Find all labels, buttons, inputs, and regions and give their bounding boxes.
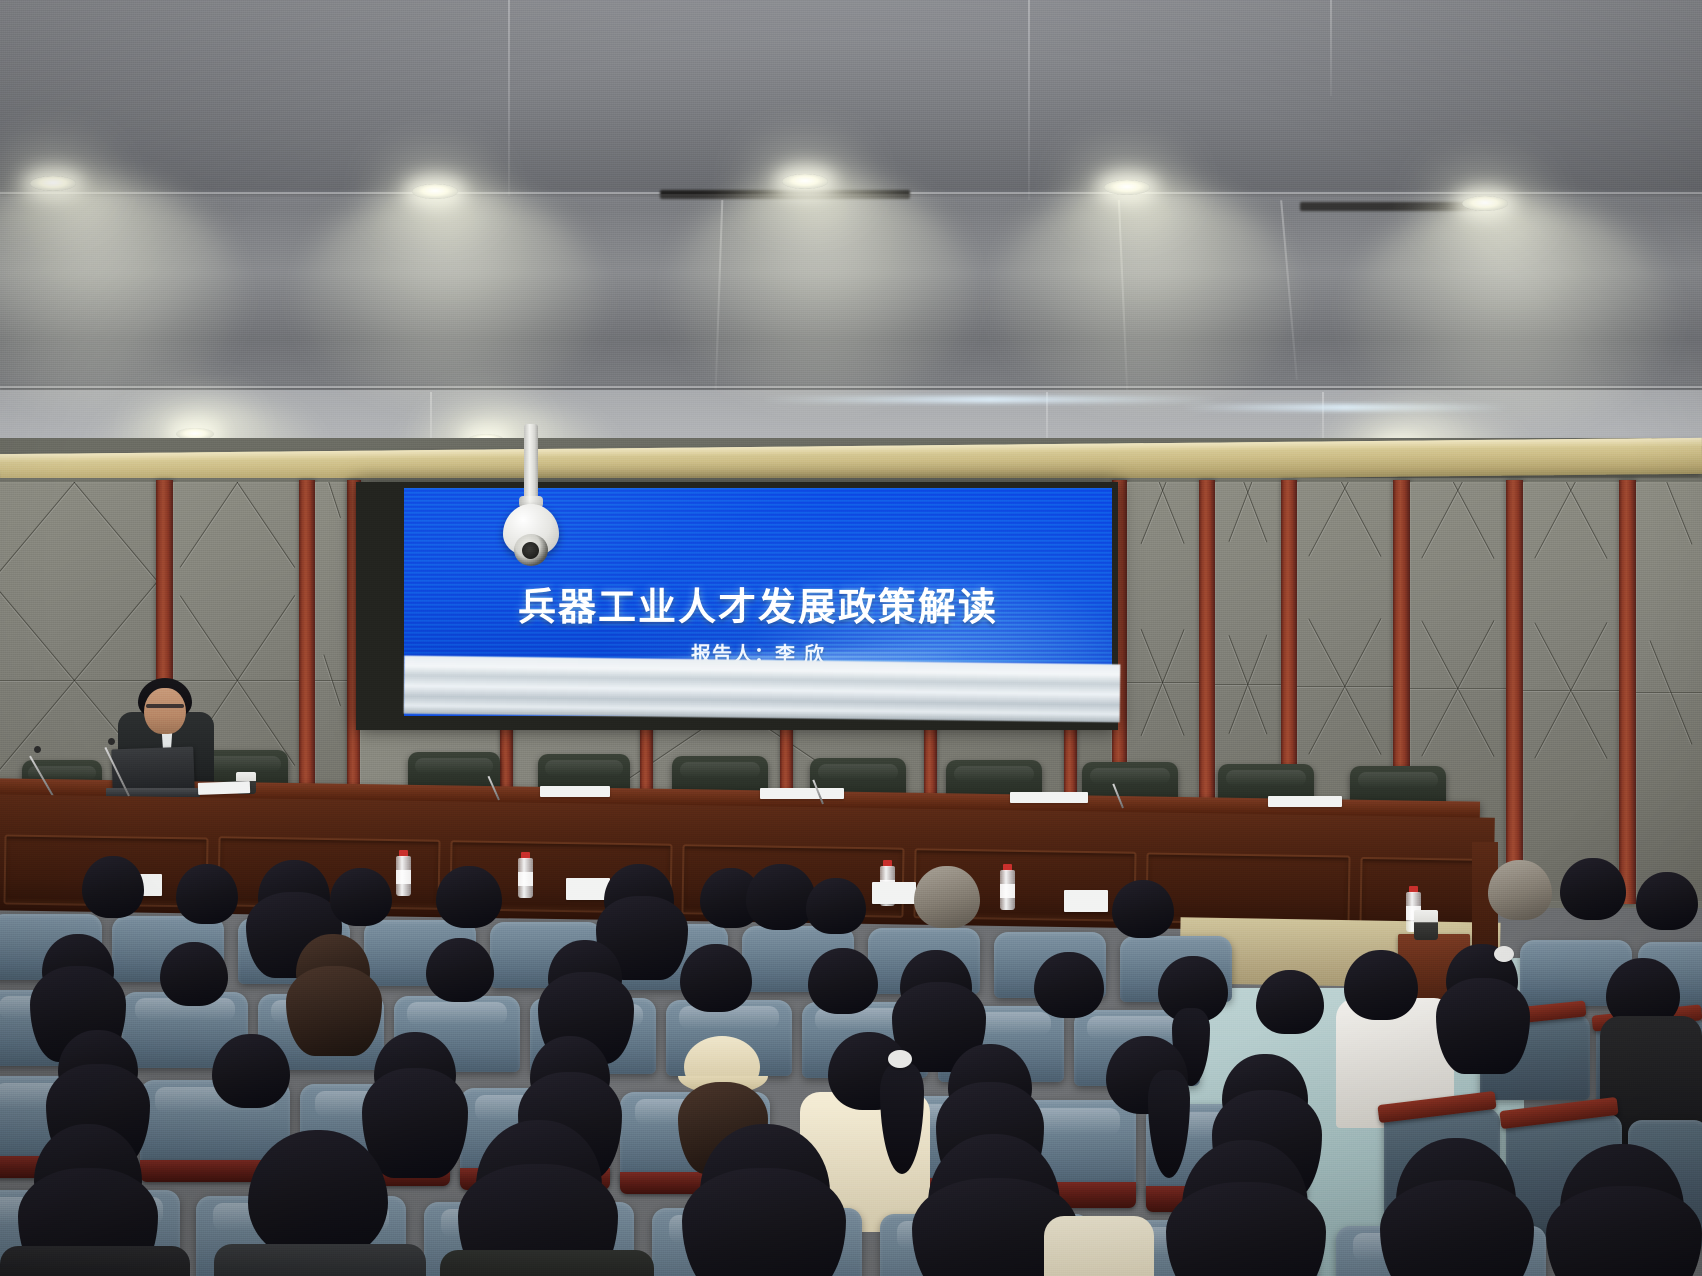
- ceiling-downlight: [782, 174, 828, 189]
- conference-hall-photo: 兵器工业人才发展政策解读 报告人：李 欣: [0, 0, 1702, 1276]
- audience-head: [1112, 880, 1174, 938]
- water-bottle: [1000, 864, 1015, 910]
- audience-head: [176, 864, 238, 924]
- camera-mount-pole: [524, 424, 538, 502]
- audience-head: [808, 948, 878, 1014]
- audience-head: [680, 944, 752, 1012]
- audience-hair: [362, 1068, 468, 1178]
- desk-papers: [1010, 792, 1088, 803]
- audience-head: [426, 938, 494, 1002]
- ceiling-downlight: [412, 184, 458, 199]
- audience-shoulders: [440, 1250, 654, 1276]
- ceiling-downlight: [1462, 196, 1508, 211]
- audience-head: [1560, 858, 1626, 920]
- desk-papers: [198, 781, 250, 795]
- microphone-head: [108, 738, 115, 745]
- camera-lens: [522, 542, 539, 559]
- hair-clip: [1494, 946, 1514, 962]
- speaker-glasses: [146, 704, 184, 708]
- audience-hair: [682, 1168, 846, 1276]
- ceiling: [0, 0, 1702, 470]
- audience-shoulders: [214, 1244, 426, 1276]
- audience-coat: [1044, 1216, 1154, 1276]
- audience-hair: [1436, 978, 1530, 1074]
- desk-papers: [1268, 796, 1342, 807]
- coffee-cup: [1414, 910, 1438, 940]
- audience-head: [436, 866, 502, 928]
- ceiling-downlight: [1104, 180, 1150, 195]
- audience-hair: [1166, 1182, 1326, 1276]
- hair-scrunchie: [888, 1050, 912, 1068]
- audience-head: [160, 942, 228, 1006]
- audience-head: [1344, 950, 1418, 1020]
- name-card: [872, 882, 916, 904]
- audience-head: [248, 1130, 388, 1260]
- audience-head: [914, 866, 980, 928]
- audience-area: 5: [0, 838, 1702, 1276]
- audience-shoulders: [0, 1246, 190, 1276]
- desk-papers: [540, 786, 610, 797]
- speaker-head: [144, 688, 186, 734]
- audience-head: [330, 868, 392, 926]
- audience-head: [212, 1034, 290, 1108]
- screen-lower-spill: [404, 656, 1121, 723]
- desk-papers: [760, 788, 844, 799]
- ceiling-downlight: [30, 176, 76, 191]
- audience-head: [746, 864, 816, 930]
- audience-head: [1256, 970, 1324, 1034]
- microphone-head: [34, 746, 41, 753]
- audience-head: [1488, 860, 1552, 920]
- audience-head: [806, 878, 866, 934]
- audience-head: [1636, 872, 1698, 930]
- water-bottle: [518, 852, 533, 898]
- water-bottle: [396, 850, 411, 896]
- audience-hair: [1380, 1180, 1534, 1276]
- audience-hair: [1546, 1186, 1702, 1276]
- audience-head: [82, 856, 144, 918]
- audience-head: [1034, 952, 1104, 1018]
- name-card: [1064, 890, 1108, 912]
- audience-hair: [286, 966, 382, 1056]
